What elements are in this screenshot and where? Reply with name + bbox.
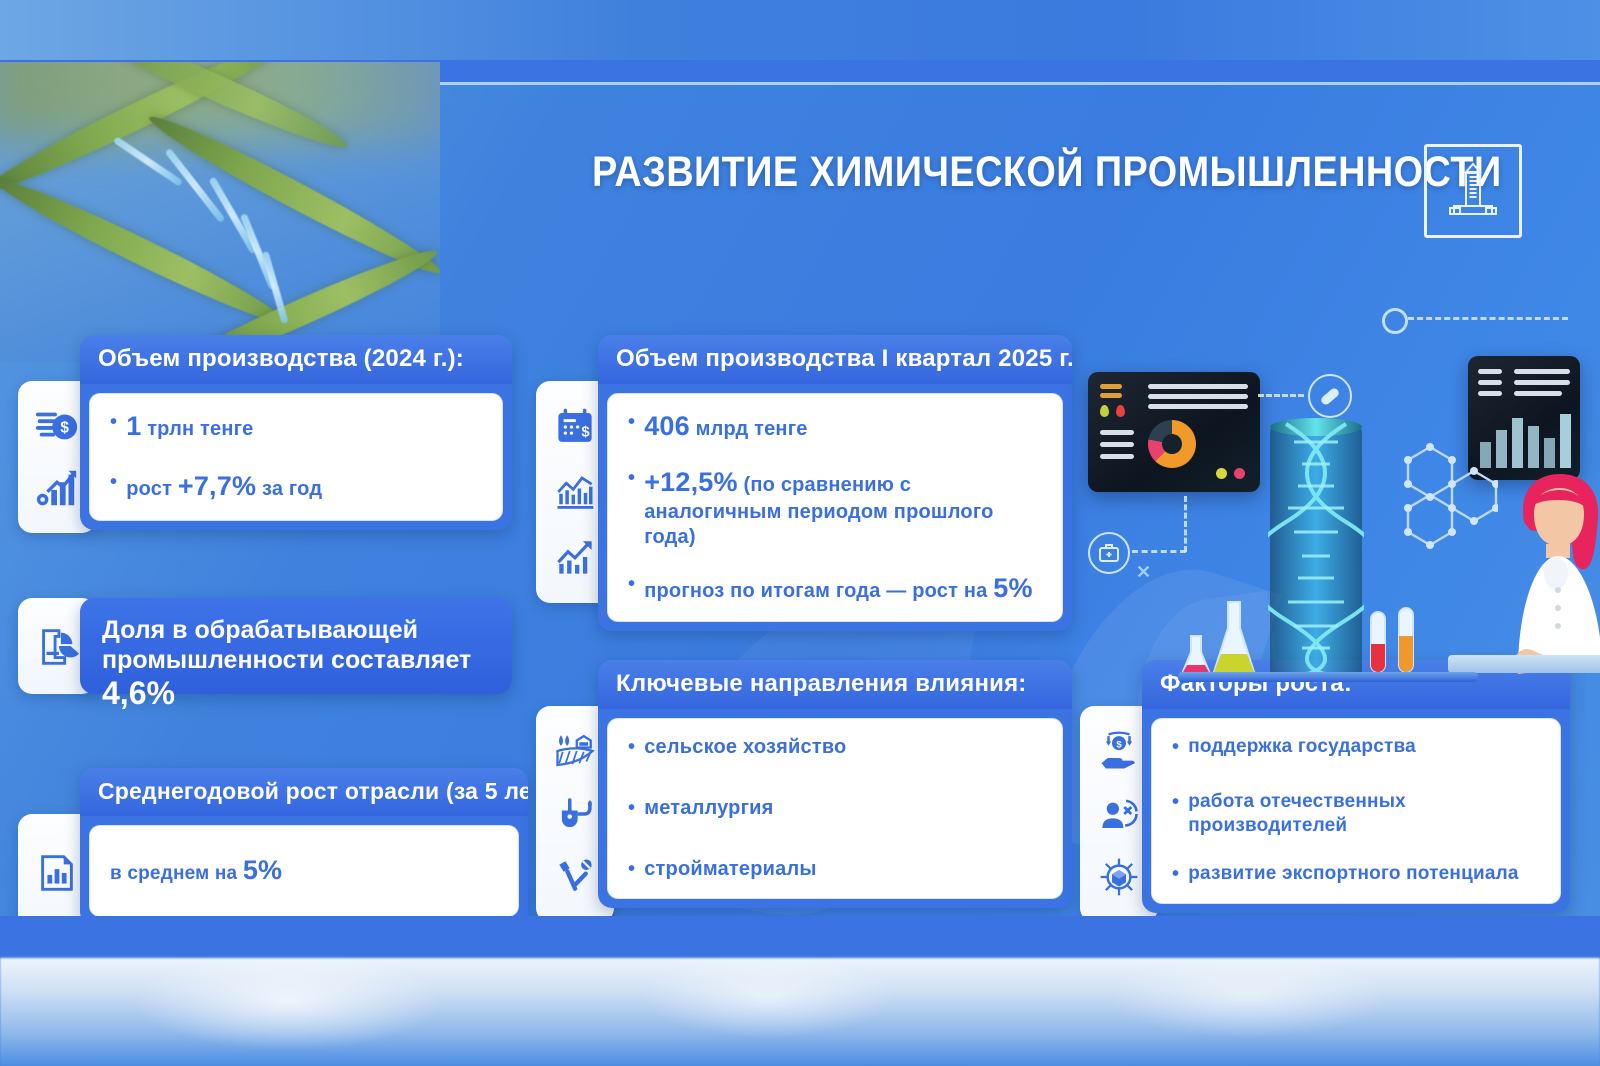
list-item: • развитие экспортного потенциала	[1172, 862, 1540, 887]
card-body: • поддержка государства • работа отечест…	[1142, 709, 1570, 913]
flask-icon	[1208, 600, 1260, 680]
list-item-label: металлургия	[644, 796, 773, 821]
dashed-connector	[1132, 550, 1186, 553]
dashed-connector	[1258, 394, 1304, 397]
card-value: 4,6%	[102, 675, 175, 711]
bullet-text: млрд тенге	[696, 418, 808, 440]
card-text-block: Доля в обрабатывающей промышленности сос…	[80, 598, 512, 694]
svg-text:$: $	[581, 425, 590, 441]
card-panel: Объем производства (2024 г.): • 1 трлн т…	[80, 335, 512, 530]
card-panel: Факторы роста: • поддержка государства •…	[1142, 660, 1570, 913]
list-item: • поддержка государства	[1172, 735, 1540, 760]
list-item: • 406 млрд тенге	[628, 410, 1042, 444]
pill-icon	[1308, 374, 1352, 418]
bullet-dot: •	[1172, 862, 1179, 887]
card-inner-panel: в среднем на 5%	[89, 825, 519, 917]
first-aid-kit-icon	[1088, 532, 1130, 574]
card-title: Ключевые направления влияния:	[598, 660, 1072, 709]
bar-line-chart-icon	[554, 471, 596, 513]
test-tube-icon	[1368, 610, 1388, 680]
card-text-line-1: Доля в обрабатывающей	[102, 616, 490, 646]
agriculture-field-icon	[554, 730, 596, 772]
construction-tools-icon	[554, 856, 596, 898]
card-title: Объем производства (2024 г.):	[80, 335, 512, 384]
card-body: в среднем на 5%	[80, 816, 528, 926]
card-body: • 406 млрд тенге • +12,5% (по сравнению …	[598, 384, 1072, 631]
list-item: • металлургия	[628, 796, 1042, 821]
list-item: в среднем на 5%	[110, 854, 282, 888]
body-value: 5%	[243, 855, 282, 885]
svg-text:$: $	[1116, 740, 1122, 751]
list-item: • 1 трлн тенге	[110, 410, 482, 444]
node-circle-icon	[1382, 308, 1408, 334]
card-inner-panel: • 1 трлн тенге • рост +7,7% за год	[89, 393, 503, 521]
card-title: Среднегодовой рост отрасли (за 5 лет):	[80, 768, 528, 816]
domestic-producers-icon	[1098, 793, 1140, 835]
building-icon	[1442, 160, 1504, 222]
metallurgy-ladle-icon	[554, 793, 596, 835]
list-item: • рост +7,7% за год	[110, 470, 482, 504]
card-title: Объем производства I квартал 2025 г.:	[598, 335, 1072, 384]
list-item: • прогноз по итогам года — рост на 5%	[628, 572, 1042, 606]
card-body: • сельское хозяйство • металлургия • стр…	[598, 709, 1072, 908]
growth-chart-gear-icon	[34, 465, 80, 511]
bullet-dot: •	[110, 470, 117, 495]
card-text-line-2: промышленности составляет	[102, 646, 471, 674]
infographic-slide: РАЗВИТИЕ ХИМИЧЕСКОЙ ПРОМЫШЛЕННОСТИ	[0, 0, 1600, 1066]
bullet-value: +12,5%	[644, 467, 738, 497]
bullet-dot: •	[628, 735, 635, 760]
list-item-label: работа отечественных производителей	[1188, 790, 1540, 838]
dna-helix-icon	[1268, 420, 1364, 678]
page-title: РАЗВИТИЕ ХИМИЧЕСКОЙ ПРОМЫШЛЕННОСТИ	[592, 150, 1314, 195]
bullet-dot: •	[628, 466, 635, 491]
svg-text:$: $	[60, 420, 69, 437]
chemistry-lab-scene: ✕	[1060, 300, 1600, 680]
list-item: • стройматериалы	[628, 857, 1042, 882]
bullet-text: трлн тенге	[147, 418, 253, 440]
bullet-dot: •	[628, 857, 635, 882]
dna-helix-foliage-photo	[0, 62, 440, 362]
bullet-dot: •	[628, 572, 635, 597]
cross-marker: ✕	[1136, 562, 1151, 583]
bullet-prefix: прогноз по итогам года — рост на	[644, 580, 987, 602]
bullet-text: за год	[262, 478, 322, 500]
bullet-value: +7,7%	[178, 471, 256, 501]
card-body: • 1 трлн тенге • рост +7,7% за год	[80, 384, 512, 530]
card-panel: Среднегодовой рост отрасли (за 5 лет): в…	[80, 768, 528, 926]
card-inner-panel: • сельское хозяйство • металлургия • стр…	[607, 718, 1063, 899]
test-tube-icon	[1396, 606, 1416, 680]
arrow-growth-chart-icon	[554, 536, 596, 578]
bullet-dot: •	[1172, 735, 1179, 760]
list-item-label: стройматериалы	[644, 857, 816, 882]
calendar-money-icon: $	[554, 406, 596, 448]
card-share-manufacturing: Доля в обрабатывающей промышленности сос…	[18, 598, 512, 694]
bullet-prefix: рост	[126, 478, 172, 500]
scientist-avatar	[1480, 470, 1600, 685]
bar-chart-document-icon	[34, 850, 80, 896]
card-panel: Объем производства I квартал 2025 г.: • …	[598, 335, 1072, 631]
bullet-dot: •	[110, 410, 117, 435]
list-item-label: сельское хозяйство	[644, 735, 846, 760]
pie-chart-document-icon	[34, 623, 80, 669]
bullet-dot: •	[628, 410, 635, 435]
card-inner-panel: • 406 млрд тенге • +12,5% (по сравнению …	[607, 393, 1063, 622]
bullet-value: 406	[644, 411, 690, 441]
analytics-dashboard-icon	[1088, 372, 1260, 492]
background-top-strip	[0, 0, 1600, 60]
background-bottom-photo-strip	[0, 958, 1600, 1066]
state-support-hand-money-icon: $	[1098, 730, 1140, 772]
list-item-label: поддержка государства	[1188, 735, 1416, 759]
keyboard	[1448, 655, 1600, 673]
list-item: • +12,5% (по сравнению с аналогичным пер…	[628, 466, 1042, 550]
dashed-connector	[1408, 317, 1568, 320]
background-bottom-band	[0, 916, 1600, 958]
body-prefix: в среднем на	[110, 863, 237, 884]
ministry-building-logo	[1424, 144, 1522, 238]
export-box-arrows-icon	[1098, 856, 1140, 898]
bullet-value: 1	[126, 411, 141, 441]
card-inner-panel: • поддержка государства • работа отечест…	[1151, 718, 1561, 904]
bullet-dot: •	[1172, 790, 1179, 815]
card-panel: Ключевые направления влияния: • сельское…	[598, 660, 1072, 908]
list-item: • сельское хозяйство	[628, 735, 1042, 760]
lab-bench	[1178, 672, 1478, 682]
bullet-value: 5%	[993, 573, 1032, 603]
list-item-label: развитие экспортного потенциала	[1188, 862, 1518, 886]
coins-money-icon: $	[34, 403, 80, 449]
list-item: • работа отечественных производителей	[1172, 790, 1540, 838]
bullet-dot: •	[628, 796, 635, 821]
dashed-connector	[1184, 496, 1187, 552]
